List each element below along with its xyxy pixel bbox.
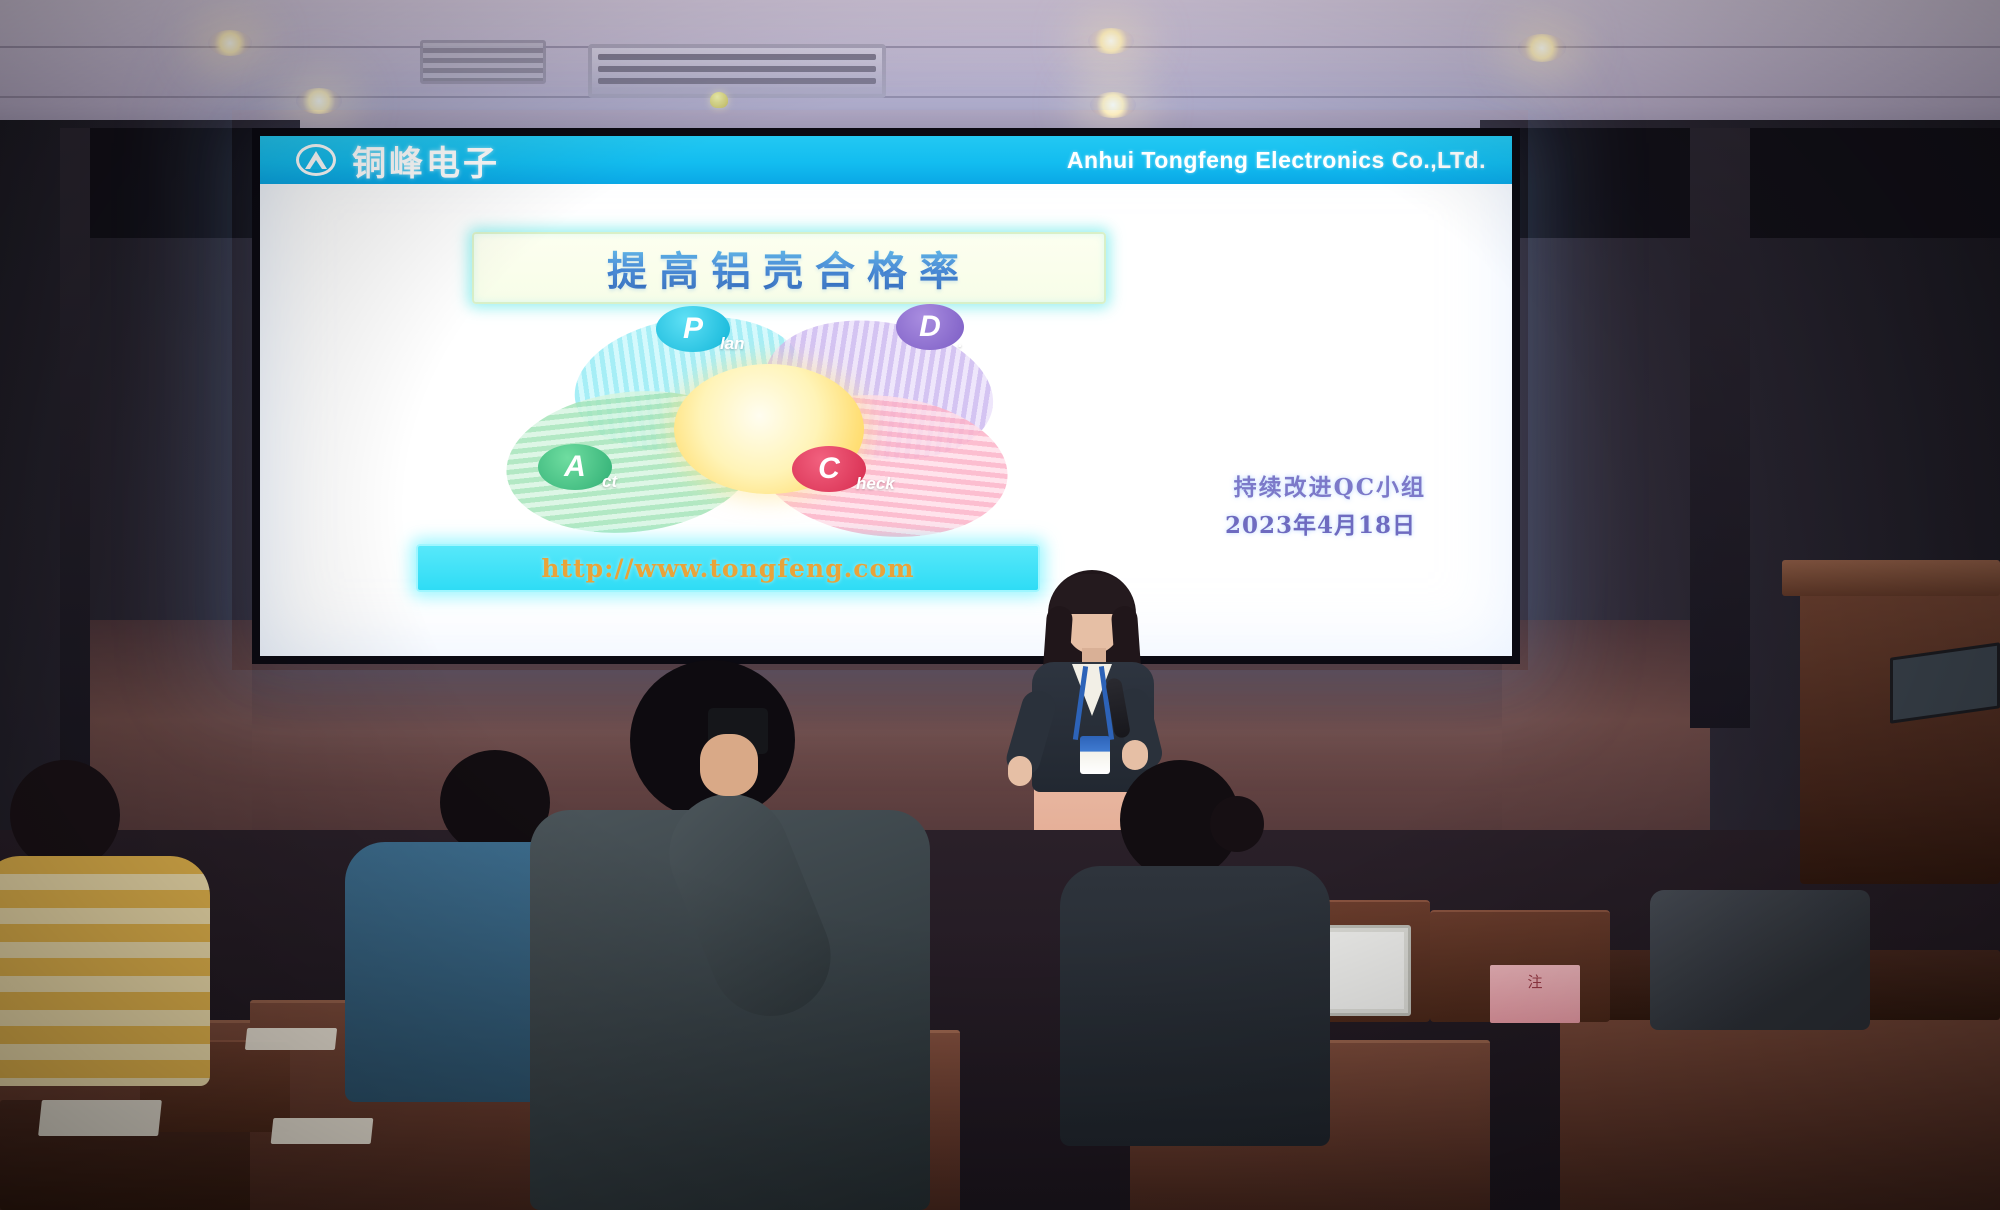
pdca-badge-do: D xyxy=(896,304,964,350)
paper-sheet xyxy=(245,1028,337,1050)
brand-name-cn: 铜峰电子 xyxy=(352,136,500,185)
pdca-do-letter: D xyxy=(919,310,941,344)
slide-title: 提高铝壳合格率 xyxy=(607,239,971,297)
pdca-badge-act: A xyxy=(538,444,612,490)
audience-body xyxy=(0,856,210,1086)
projection-screen-frame: 铜峰电子 Anhui Tongfeng Electronics Co.,LTd.… xyxy=(252,128,1520,664)
slide-title-box: 提高铝壳合格率 xyxy=(472,232,1106,304)
wall-strip-right xyxy=(1690,128,1750,728)
audience-head xyxy=(10,760,120,870)
podium xyxy=(1800,580,2000,884)
slide-header-band: 铜峰电子 Anhui Tongfeng Electronics Co.,LTd. xyxy=(260,136,1512,184)
audience-member xyxy=(1080,760,1340,1160)
ac-vent-icon xyxy=(588,44,886,98)
pdca-act-word: ct xyxy=(602,472,617,492)
slide-url-bar: http://www.tongfeng.com xyxy=(416,544,1040,592)
pdca-do-word: . xyxy=(958,332,963,352)
table-placard: 注 xyxy=(1490,965,1580,1023)
ceiling-downlight xyxy=(1088,28,1134,54)
brand-name-en: Anhui Tongfeng Electronics Co.,LTd. xyxy=(1067,147,1486,174)
placard-text: 注 xyxy=(1490,971,1580,992)
pdca-diagram: P lan D . A ct C heck xyxy=(496,312,1036,542)
ceiling-downlight xyxy=(1090,92,1136,118)
podium-top xyxy=(1782,560,2000,596)
photographer-hand xyxy=(700,734,758,796)
tongfeng-logo-icon xyxy=(296,144,336,176)
ceiling-downlight xyxy=(1518,34,1566,62)
qc-team-label: 持续改进QC小组 xyxy=(1234,468,1426,502)
wall-strip-left xyxy=(60,128,90,868)
audience-body xyxy=(1060,866,1330,1146)
projection-screen: 铜峰电子 Anhui Tongfeng Electronics Co.,LTd.… xyxy=(260,136,1512,656)
presenter-hand-left xyxy=(1008,756,1032,786)
pdca-check-letter: C xyxy=(818,452,840,486)
audience-member-photographer xyxy=(540,660,1000,1210)
audience-member xyxy=(0,760,250,1090)
photo-scene: 铜峰电子 Anhui Tongfeng Electronics Co.,LTd.… xyxy=(0,0,2000,1210)
ac-vent-icon xyxy=(420,40,546,84)
slide-url: http://www.tongfeng.com xyxy=(541,554,914,583)
pdca-badge-check: C xyxy=(792,446,866,492)
paper-sheet xyxy=(38,1100,162,1136)
pdca-check-word: heck xyxy=(856,474,895,494)
paper-sheet xyxy=(271,1118,374,1144)
hair-bun xyxy=(1210,796,1264,852)
ceiling-downlight xyxy=(208,30,252,56)
pdca-plan-word: lan xyxy=(720,334,745,354)
desk-row-far-right xyxy=(1560,1000,2000,1210)
bag xyxy=(1650,890,1870,1030)
pdca-plan-letter: P xyxy=(683,312,703,346)
pdca-act-letter: A xyxy=(564,450,586,484)
pdca-badge-plan: P xyxy=(656,306,730,352)
ceiling-downlight xyxy=(296,88,342,114)
presentation-date: 2023年4月18日 xyxy=(1225,506,1416,540)
sprinkler-icon xyxy=(710,92,728,108)
